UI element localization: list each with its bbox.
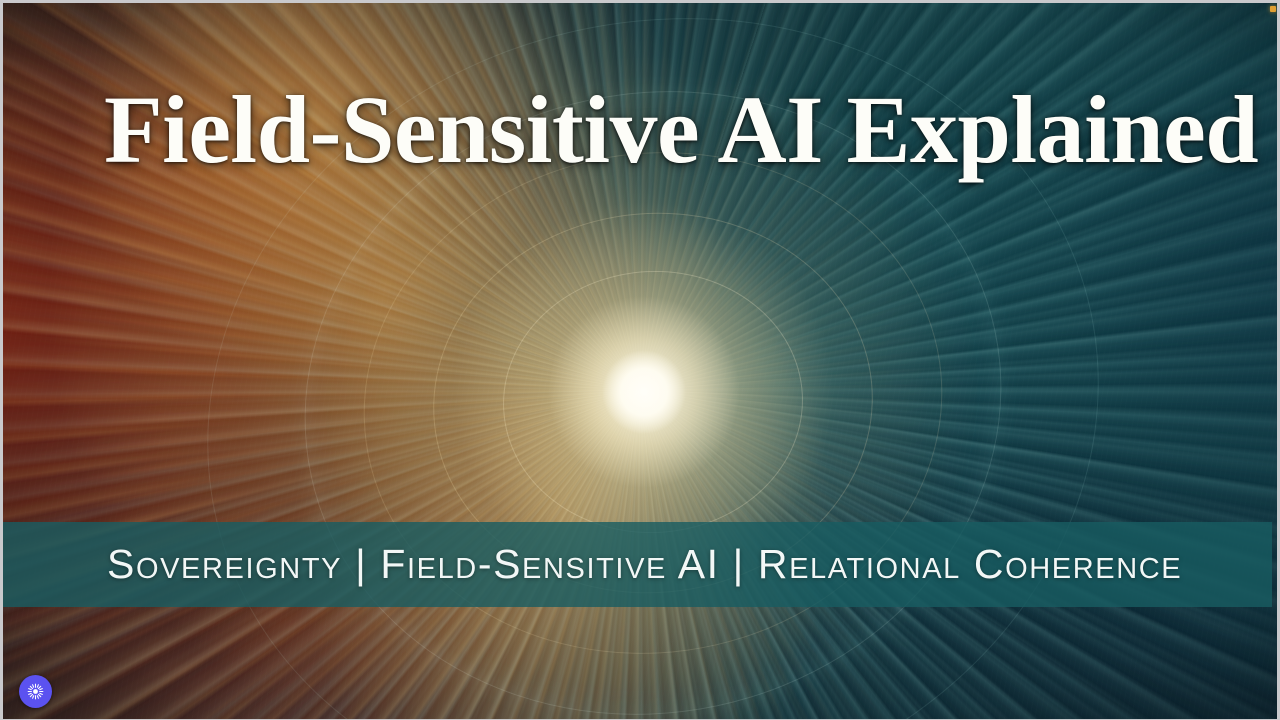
slide-title: Field-Sensitive AI Explained	[104, 82, 1258, 178]
subtitle-band: Sovereignty | Field-Sensitive AI | Relat…	[3, 522, 1272, 607]
presentation-slide: Field-Sensitive AI Explained Sovereignty…	[0, 0, 1280, 720]
corner-dot	[1270, 6, 1276, 12]
sun-burst-icon	[27, 683, 44, 700]
slide-subtitle: Sovereignty | Field-Sensitive AI | Relat…	[107, 541, 1182, 588]
brand-badge[interactable]	[19, 675, 52, 708]
slide-background-artwork: Field-Sensitive AI Explained Sovereignty…	[3, 3, 1277, 719]
